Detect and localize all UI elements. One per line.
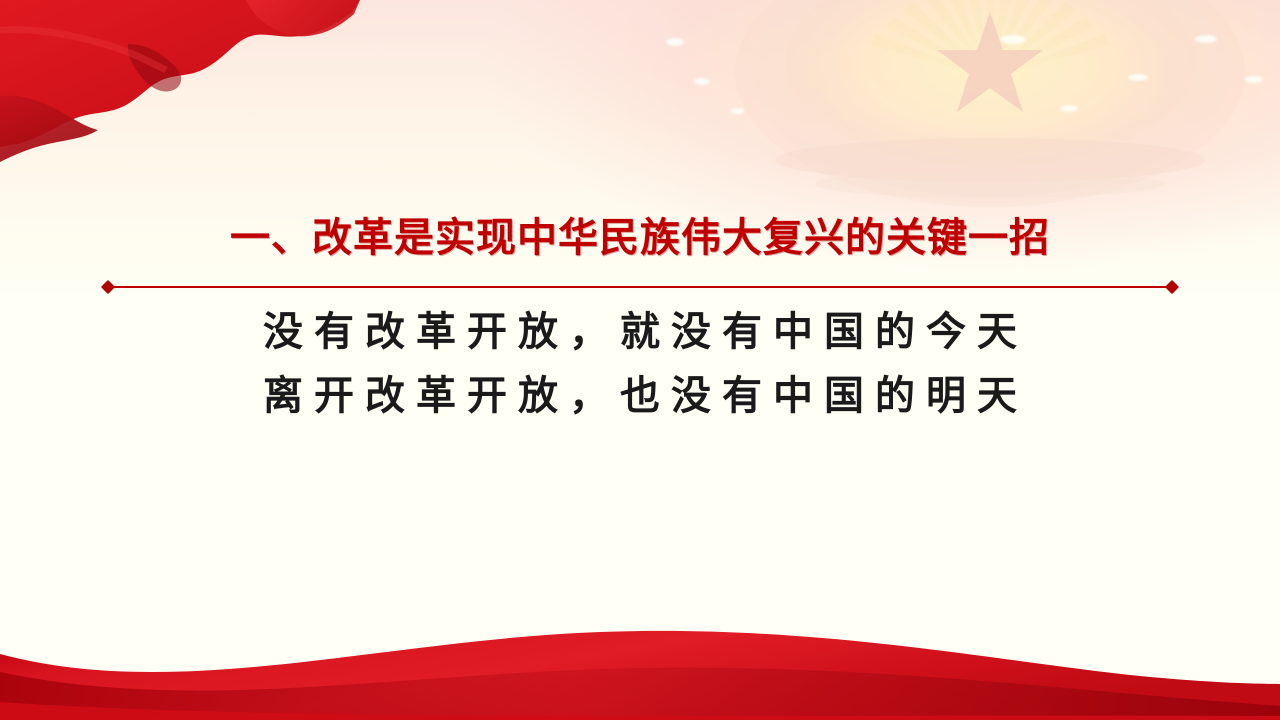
diamond-marker-right-icon — [1165, 280, 1179, 294]
red-wave-ribbon — [0, 610, 1280, 720]
quote-line-2: 离开改革开放，也没有中国的明天 — [0, 364, 1280, 428]
title-divider — [103, 280, 1177, 294]
quote-line-1: 没有改革开放，就没有中国的今天 — [0, 300, 1280, 364]
divider-rule — [110, 286, 1170, 288]
slide-canvas: 一、改革是实现中华民族伟大复兴的关键一招 没有改革开放，就没有中国的今天 离开改… — [0, 0, 1280, 720]
section-title: 一、改革是实现中华民族伟大复兴的关键一招 — [0, 210, 1280, 266]
quote-block: 没有改革开放，就没有中国的今天 离开改革开放，也没有中国的明天 — [0, 300, 1280, 428]
